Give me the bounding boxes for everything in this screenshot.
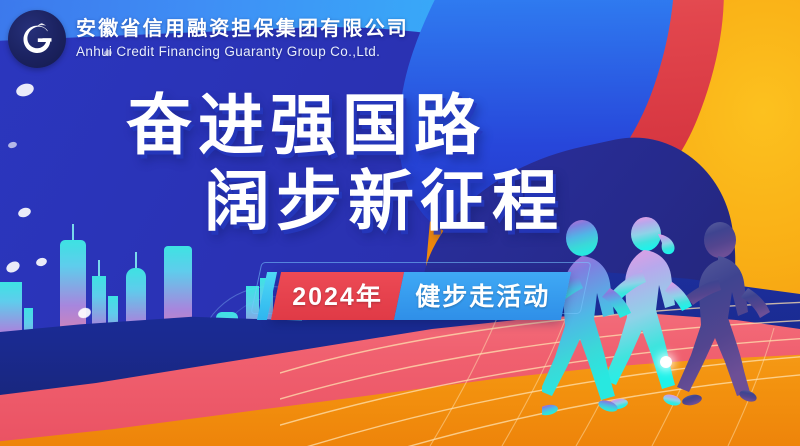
brand-text: 安徽省信用融资担保集团有限公司 Anhui Credit Financing G… <box>76 19 409 59</box>
event-badge: 2024年 健步走活动 <box>271 272 571 320</box>
glow-accent-dot <box>660 356 672 368</box>
company-name-cn: 安徽省信用融资担保集团有限公司 <box>76 19 409 39</box>
badge-year-segment: 2024年 <box>271 272 404 320</box>
badge-year-label: 2024年 <box>292 277 383 313</box>
badge-event-label: 健步走活动 <box>415 277 550 313</box>
runner-middle <box>604 217 692 411</box>
headline-line-2: 阔步新征程 <box>204 168 564 234</box>
headline-line-1: 奋进强国路 <box>126 92 564 158</box>
runner-right <box>677 222 770 407</box>
badge-event-segment: 健步走活动 <box>394 272 571 320</box>
promo-banner: 安徽省信用融资担保集团有限公司 Anhui Credit Financing G… <box>0 0 800 446</box>
three-runners-silhouette <box>542 204 792 434</box>
company-logo-icon <box>8 10 66 68</box>
company-name-en: Anhui Credit Financing Guaranty Group Co… <box>76 45 409 59</box>
brand-lockup: 安徽省信用融资担保集团有限公司 Anhui Credit Financing G… <box>8 10 409 68</box>
headline: 奋进强国路 阔步新征程 <box>126 92 564 234</box>
